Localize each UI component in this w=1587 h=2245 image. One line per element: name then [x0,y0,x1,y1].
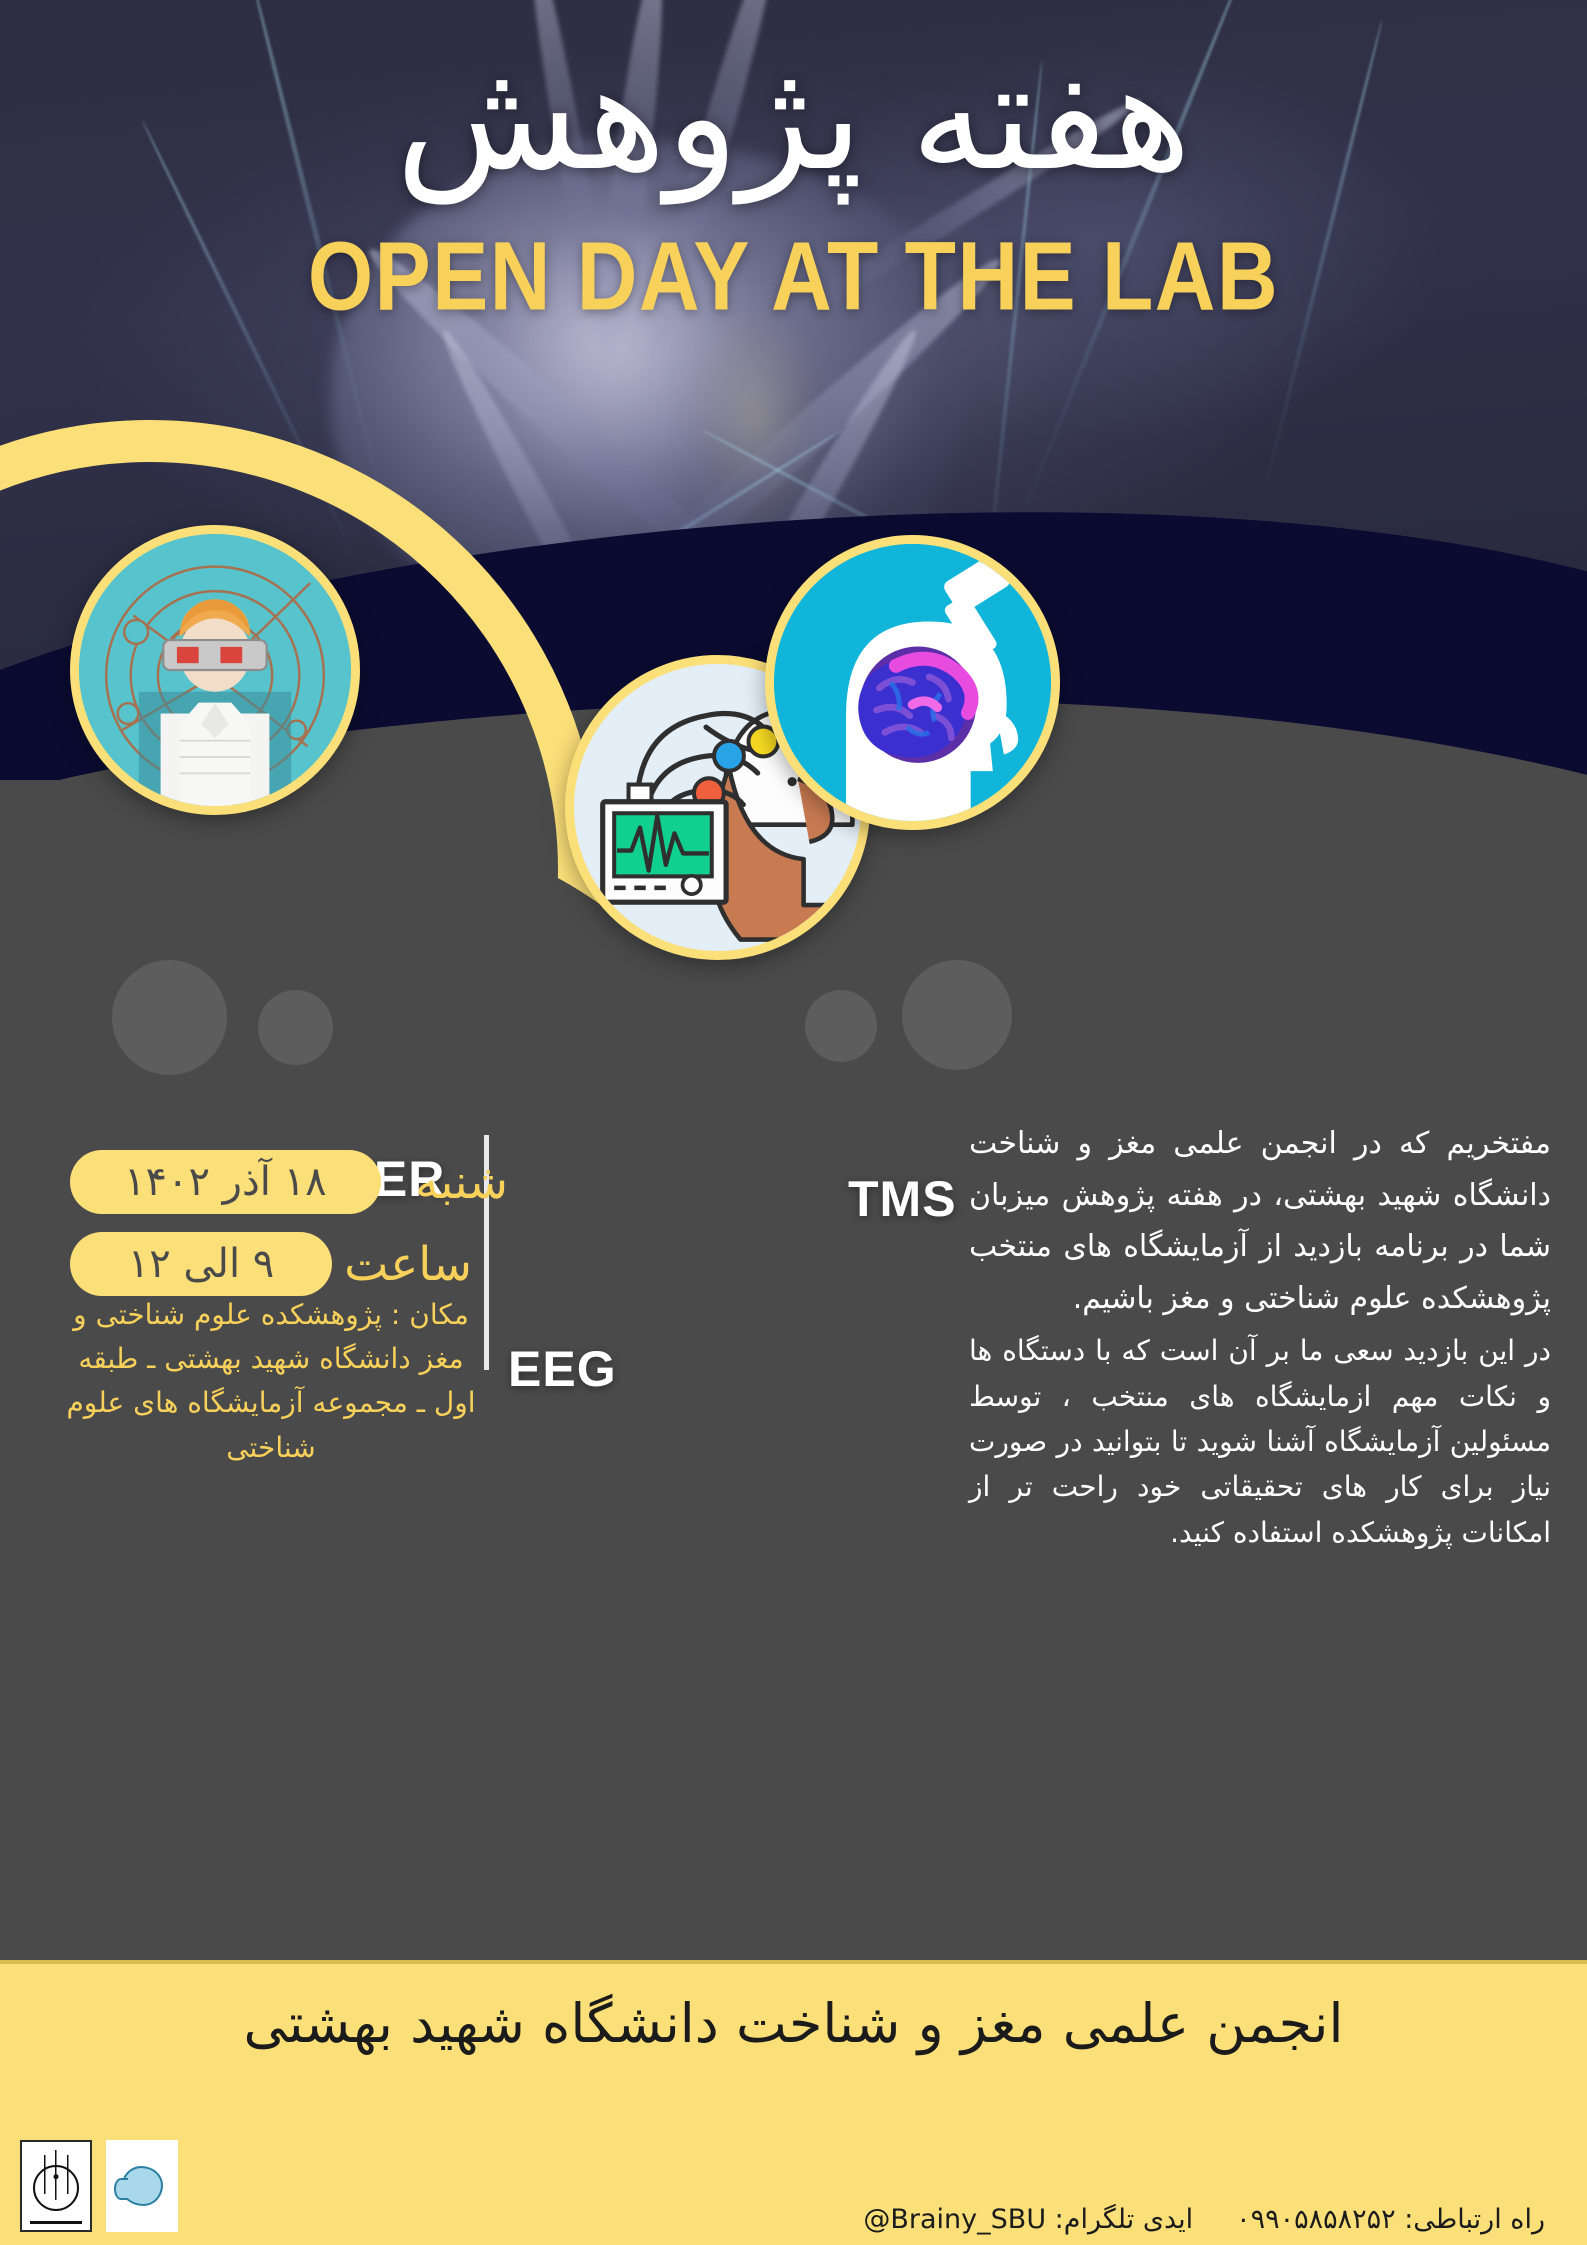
event-date-pill: ۱۸ آذر ۱۴۰۲ [70,1150,381,1214]
decorative-dot [112,960,227,1075]
eye-tracker-icon-circle [70,525,360,815]
sbu-logo-base [30,2221,82,2224]
poster-root: هفته پژوهش OPEN DAY AT THE LAB [0,0,1587,2245]
footer-banner: انجمن علمی مغز و شناخت دانشگاه شهید بهشت… [0,1960,1587,2245]
organization-name: انجمن علمی مغز و شناخت دانشگاه شهید بهشت… [0,1992,1587,2055]
event-time-label: ساعت [354,1237,472,1292]
decorative-dot [902,960,1012,1070]
description-paragraph-1: مفتخریم که در انجمن علمی مغز و شناخت دان… [969,1118,1551,1324]
event-description: مفتخریم که در انجمن علمی مغز و شناخت دان… [969,1118,1551,1559]
contact-phone: ۰۹۹۰۵۸۵۸۲۵۲ [1236,2204,1396,2235]
event-venue-text: مکان : پژوهشکده علوم شناختی و مغز دانشگا… [56,1293,486,1470]
tms-icon [774,544,1051,821]
event-day-row: شنبه ۱۸ آذر ۱۴۰۲ [70,1150,521,1214]
poster-title-english: OPEN DAY AT THE LAB [0,220,1587,333]
event-time-row: ساعت ۹ الی ۱۲ [70,1232,472,1296]
telegram-handle[interactable]: @Brainy_SBU [863,2204,1046,2235]
decorative-dot [258,990,333,1065]
contact-label: راه ارتباطی: [1404,2204,1545,2235]
tms-label: TMS [848,1170,957,1228]
decorative-dot [805,990,877,1062]
telegram-label: ایدی تلگرام: [1055,2204,1193,2235]
brain-icon [121,2166,163,2206]
event-day-label: شنبه [403,1155,521,1210]
poster-title-persian: هفته پژوهش [0,16,1587,219]
contact-line: راه ارتباطی: ۰۹۹۰۵۸۵۸۲۵۲ ایدی تلگرام: @B… [863,2204,1545,2235]
shahid-beheshti-university-logo [20,2140,92,2232]
brain-society-logo [106,2140,178,2232]
tms-icon-circle [765,535,1060,830]
eeg-label: EEG [508,1340,617,1398]
sbu-logo-ring [33,2165,79,2211]
description-paragraph-2: در این بازدید سعی ما بر آن است که با دست… [969,1328,1551,1555]
event-time-pill: ۹ الی ۱۲ [70,1232,332,1296]
eye-tracker-icon [79,534,351,806]
